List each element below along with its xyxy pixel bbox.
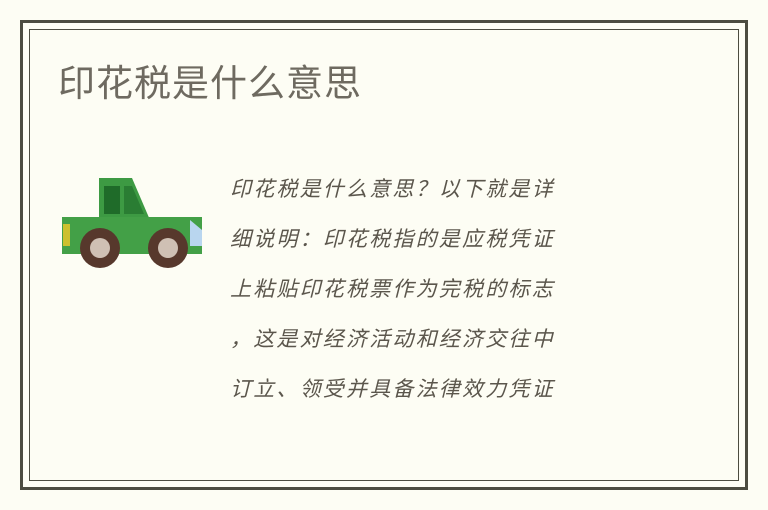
truck-taillight	[63, 224, 70, 246]
green-pickup-truck-illustration	[58, 172, 210, 272]
body-line: 印花税是什么意思？以下就是详	[230, 164, 650, 214]
truck-wheel-rear-hub	[90, 238, 110, 258]
page-title: 印花税是什么意思	[58, 62, 362, 106]
body-line: ，这是对经济活动和经济交往中	[230, 314, 650, 364]
truck-window-rear	[104, 186, 120, 214]
truck-wheel-front-hub	[158, 238, 178, 258]
body-line: 上粘贴印花税票作为完税的标志	[230, 264, 650, 314]
article-page: 印花税是什么意思 印花税是什么意思？以下就是详 细说明：印花税指的是应税凭证 上…	[0, 0, 768, 510]
body-line: 订立、领受并具备法律效力凭证	[230, 364, 650, 414]
article-body: 印花税是什么意思？以下就是详 细说明：印花税指的是应税凭证 上粘贴印花税票作为完…	[230, 164, 650, 414]
body-line: 细说明：印花税指的是应税凭证	[230, 214, 650, 264]
